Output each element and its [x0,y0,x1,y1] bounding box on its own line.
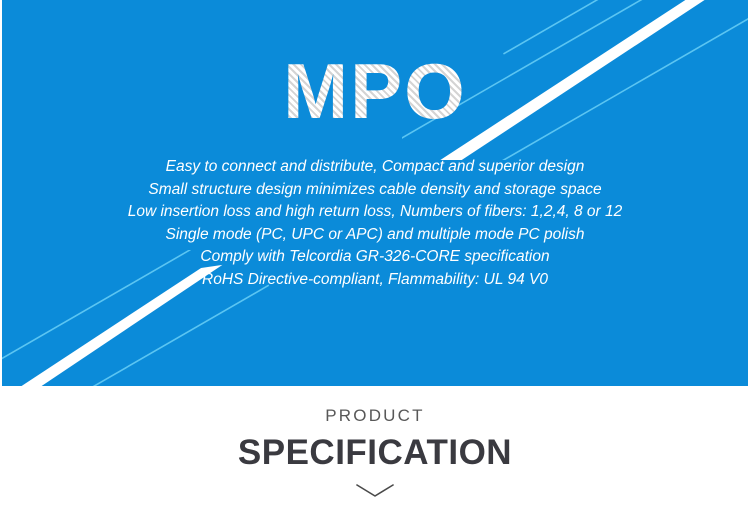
feature-line: RoHS Directive-compliant, Flammability: … [2,269,748,292]
stripe-hairline-e [9,285,270,386]
product-specification-banner-page: MPO Easy to connect and distribute, Comp… [0,0,750,509]
chevron-stroke [357,485,393,496]
feature-line: Single mode (PC, UPC or APC) and multipl… [2,224,748,247]
section-headline: SPECIFICATION [0,433,750,473]
hero-title-wrapper: MPO [2,52,748,130]
stripe-hairline-c [503,0,748,55]
chevron-down-icon-svg [355,483,395,499]
section-eyebrow: PRODUCT [0,406,750,426]
section-heading-block: PRODUCT SPECIFICATION [0,386,750,509]
hero-title: MPO [283,52,467,130]
feature-line: Low insertion loss and high return loss,… [2,201,748,224]
feature-line: Easy to connect and distribute, Compact … [2,156,748,179]
hero-banner: MPO Easy to connect and distribute, Comp… [2,0,748,386]
chevron-down-icon [355,483,395,499]
feature-line: Small structure design minimizes cable d… [2,179,748,202]
feature-line: Comply with Telcordia GR-326-CORE specif… [2,246,748,269]
feature-list: Easy to connect and distribute, Compact … [2,156,748,292]
